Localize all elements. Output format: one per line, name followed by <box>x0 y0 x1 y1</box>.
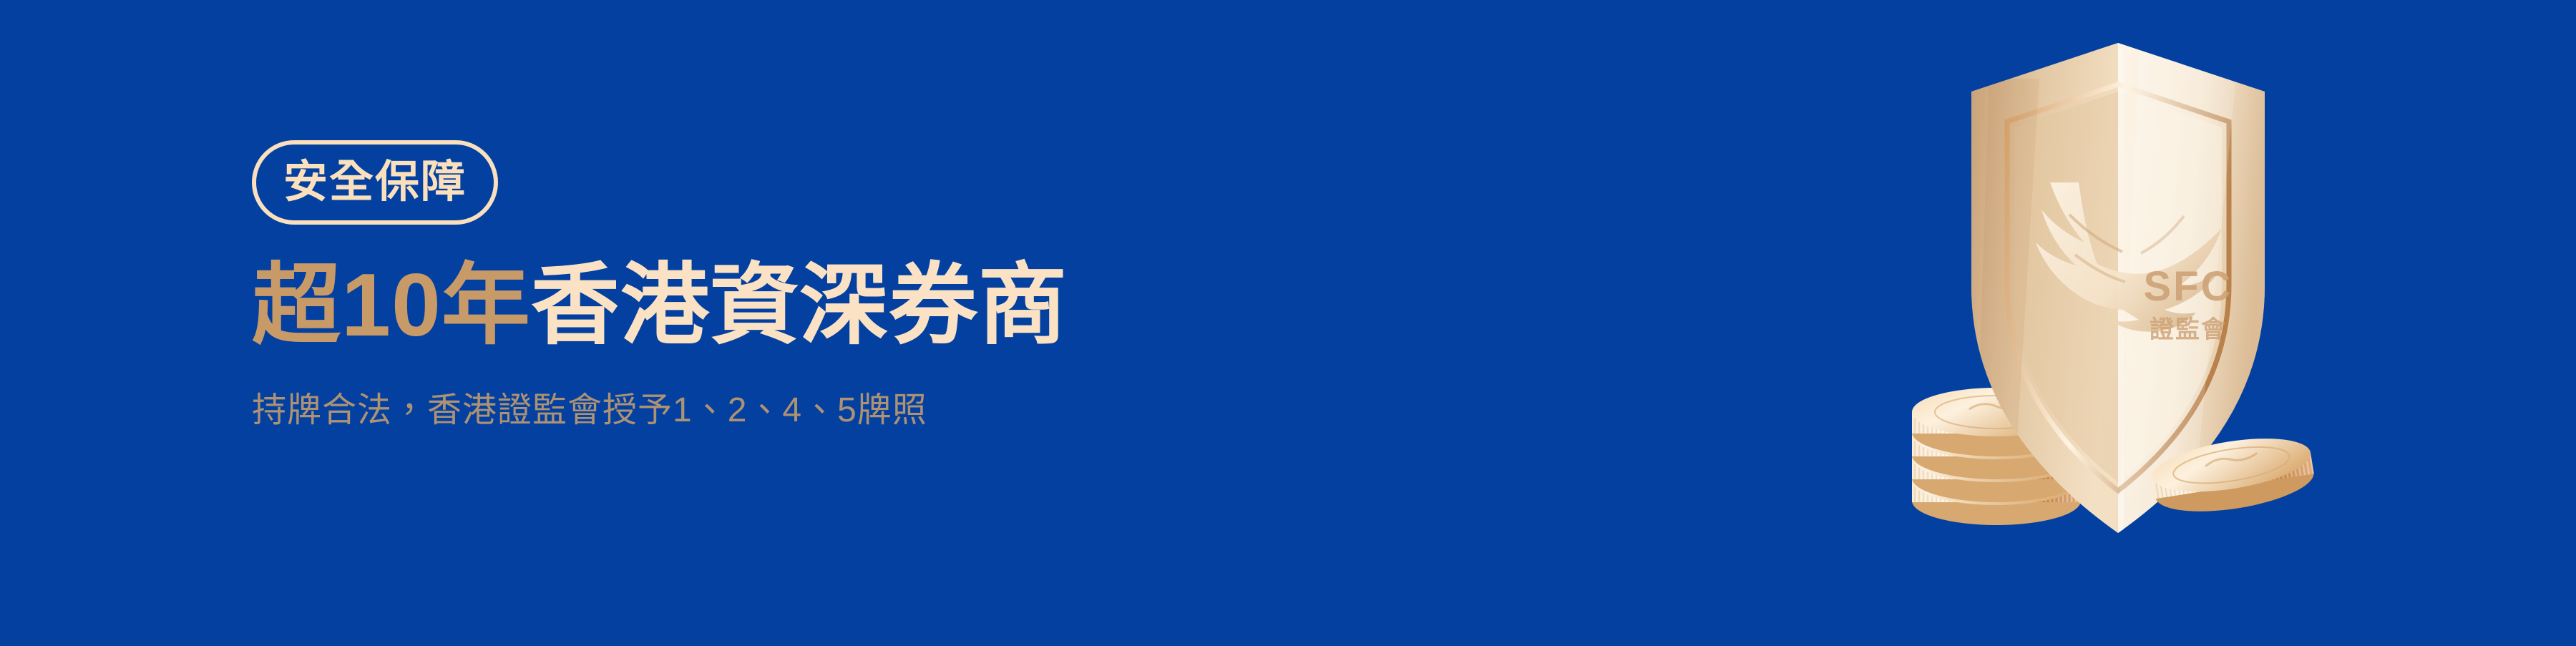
safety-badge: 安全保障 <box>252 140 498 225</box>
page-subtitle: 持牌合法，香港證監會授予1、2、4、5牌照 <box>252 388 1468 433</box>
shield-chinese-name-text: 證監會 <box>2150 315 2227 343</box>
page-title: 超10年香港資深券商 <box>252 256 1468 356</box>
headline-rest: 香港資深券商 <box>531 256 1068 355</box>
headline-highlight: 超10年 <box>252 256 531 355</box>
shield-acronym-text: SFC <box>2144 263 2233 310</box>
shield-artwork: SFC 證監會 <box>1903 0 2347 646</box>
safety-guarantee-banner: 安全保障 超10年香港資深券商 持牌合法，香港證監會授予1、2、4、5牌照 <box>0 0 2576 646</box>
banner-copy-block: 安全保障 超10年香港資深券商 持牌合法，香港證監會授予1、2、4、5牌照 <box>252 140 1468 433</box>
safety-badge-label: 安全保障 <box>283 160 467 205</box>
